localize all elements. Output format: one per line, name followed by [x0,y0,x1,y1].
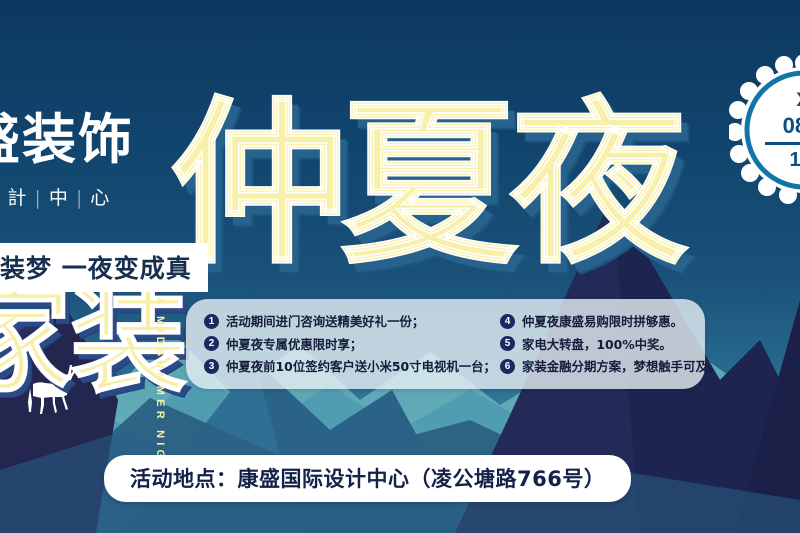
brand-sub-sep: | [34,187,41,209]
benefit-text: 仲夏夜专属优惠限时享； [226,335,362,353]
benefit-item: 5 家电大转盘，100%中奖。 [500,333,705,356]
benefits-column-right: 4 仲夏夜康盛易购限时拼够惠。 5 家电大转盘，100%中奖。 6 家装金融分期… [494,310,705,389]
tagline-box: 装梦 一夜变成真 [0,243,208,292]
brand-block: 盛装饰 設|計|中|心 [0,113,196,210]
benefit-number-badge: 3 [204,359,219,374]
benefit-text: 仲夏夜前10位签约客户送小米50寸电视机一台； [226,357,496,375]
date-seal-badge: X 08/2 18: [729,55,800,205]
benefit-text: 家电大转盘，100%中奖。 [522,335,672,353]
benefit-item: 6 家装金融分期方案，梦想触手可及。 [500,355,705,378]
seal-text-group: X 08/2 18: [729,55,800,205]
brand-sub-sep: | [76,187,83,209]
benefit-number-badge: 4 [500,314,515,329]
benefit-item: 1 活动期间进门咨询送精美好礼一份； [204,310,494,333]
benefit-number-badge: 2 [204,336,219,351]
brand-sub-char-1: 計 [7,187,27,209]
address-pill: 活动地点：康盛国际设计中心（凌公塘路766号） [104,455,631,502]
benefit-number-badge: 6 [500,359,515,374]
benefits-panel: 1 活动期间进门咨询送精美好礼一份； 2 仲夏夜专属优惠限时享； 3 仲夏夜前1… [186,299,705,389]
benefit-text: 活动期间进门咨询送精美好礼一份； [226,312,424,330]
address-text: 活动地点：康盛国际设计中心（凌公塘路766号） [130,463,605,493]
benefit-item: 2 仲夏夜专属优惠限时享； [204,333,494,356]
brand-subtitle: 設|計|中|心 [0,183,196,210]
benefit-text: 仲夏夜康盛易购限时拼够惠。 [522,312,683,330]
benefit-number-badge: 1 [204,314,219,329]
tagline-text: 装梦 一夜变成真 [0,249,192,285]
benefits-column-left: 1 活动期间进门咨询送精美好礼一份； 2 仲夏夜专属优惠限时享； 3 仲夏夜前1… [186,310,494,389]
promo-poster: 盛装饰 設|計|中|心 装梦 一夜变成真 家装 仲夏夜 A MIDSUMMER … [0,0,800,533]
seal-top-label: X [796,89,800,111]
seal-time: 18: [790,149,800,172]
benefit-item: 4 仲夏夜康盛易购限时拼够惠。 [500,310,705,333]
brand-name: 盛装饰 [0,113,196,167]
seal-date: 08/2 [783,113,800,139]
seal-divider [765,142,800,145]
brand-sub-char-3: 心 [90,187,110,209]
benefit-number-badge: 5 [500,336,515,351]
brand-sub-char-2: 中 [49,187,69,209]
benefit-text: 家装金融分期方案，梦想触手可及。 [522,357,720,375]
benefit-item: 3 仲夏夜前10位签约客户送小米50寸电视机一台； [204,355,494,378]
